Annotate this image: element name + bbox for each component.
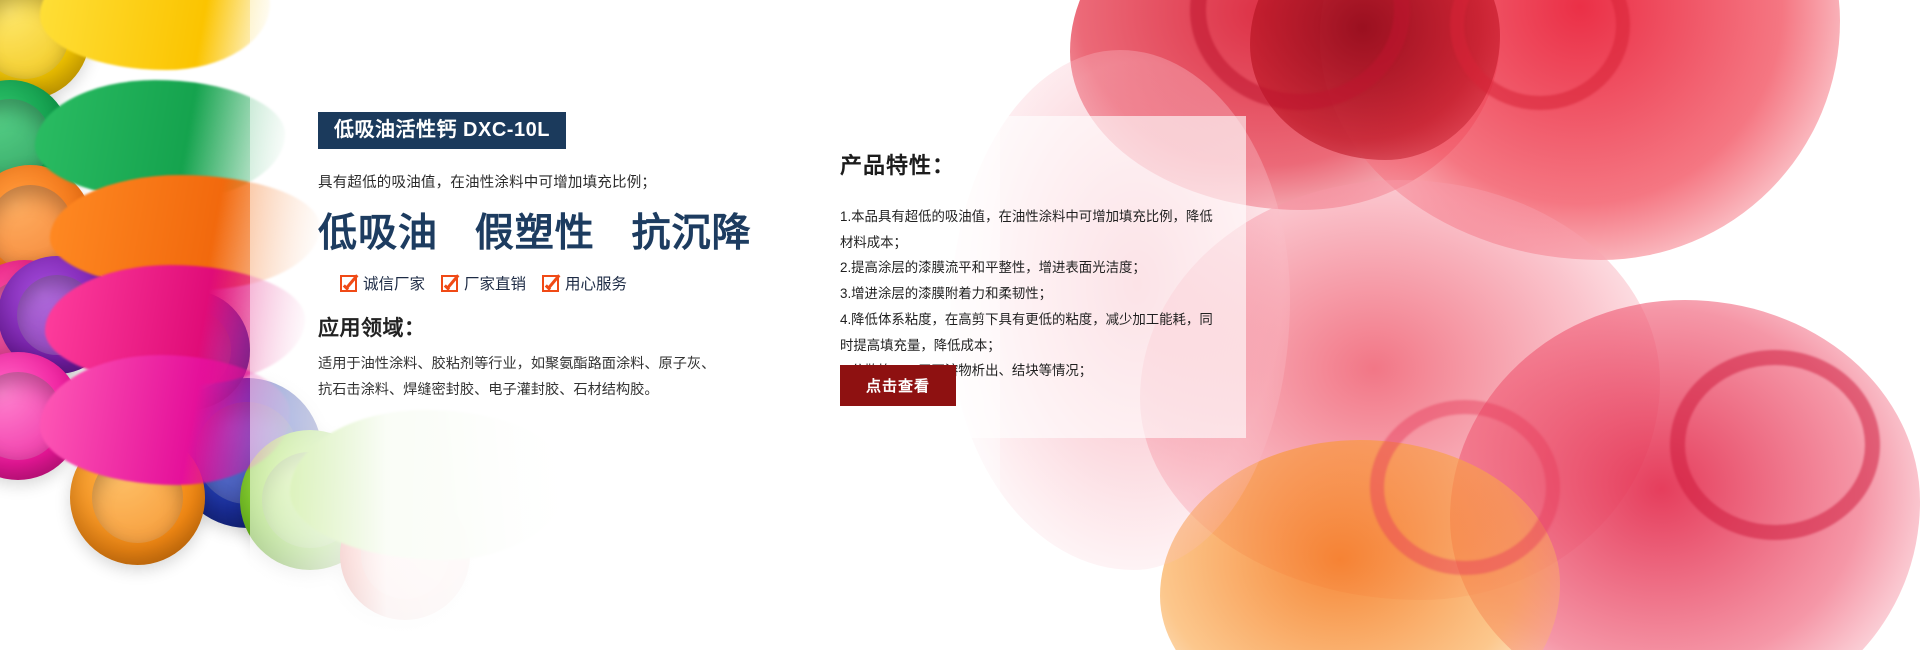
application-section-title: 应用领域： (318, 312, 748, 342)
headline-word-1: 低吸油 (318, 212, 438, 255)
product-features-panel: 产品特性： 1.本品具有超低的吸油值，在油性涂料中可增加填充比例，降低材料成本；… (806, 116, 1246, 438)
headline-word-2: 假塑性 (475, 212, 595, 255)
product-headline: 低吸油 假塑性 抗沉降 (318, 202, 748, 258)
trust-badge-2: 厂家直销 (441, 272, 526, 294)
product-features-panel-inner: 产品特性： 1.本品具有超低的吸油值，在油性涂料中可增加填充比例，降低材料成本；… (806, 116, 1246, 384)
promo-banner: 低吸油活性钙 DXC-10L 具有超低的吸油值，在油性涂料中可增加填充比例； 低… (0, 0, 1920, 650)
features-list: 1.本品具有超低的吸油值，在油性涂料中可增加填充比例，降低材料成本； 2.提高涂… (840, 204, 1218, 384)
check-box-icon (542, 275, 559, 292)
trust-badge-1: 诚信厂家 (340, 272, 425, 294)
feature-item: 1.本品具有超低的吸油值，在油性涂料中可增加填充比例，降低材料成本； (840, 204, 1218, 255)
feature-item: 4.降低体系粘度，在高剪下具有更低的粘度，减少加工能耗，同时提高填充量，降低成本… (840, 307, 1218, 358)
product-subtitle: 具有超低的吸油值，在油性涂料中可增加填充比例； (318, 171, 748, 192)
trust-badge-1-label: 诚信厂家 (363, 272, 425, 294)
headline-word-3: 抗沉降 (632, 212, 752, 255)
feature-item: 3.增进涂层的漆膜附着力和柔韧性； (840, 281, 1218, 307)
check-box-icon (340, 275, 357, 292)
product-title-chip: 低吸油活性钙 DXC-10L (318, 112, 566, 149)
application-section-body: 适用于油性涂料、胶粘剂等行业，如聚氨酯路面涂料、原子灰、抗石击涂料、焊缝密封胶、… (318, 351, 718, 404)
trust-badge-row: 诚信厂家 厂家直销 用心服务 (340, 272, 748, 294)
left-copy-block: 低吸油活性钙 DXC-10L 具有超低的吸油值，在油性涂料中可增加填充比例； 低… (318, 112, 748, 404)
paint-ring-bottom-mid (1370, 400, 1560, 575)
trust-badge-3-label: 用心服务 (565, 272, 627, 294)
paint-ring-lower-right (1670, 350, 1880, 540)
view-details-button[interactable]: 点击查看 (840, 365, 956, 406)
trust-badge-3: 用心服务 (542, 272, 627, 294)
features-panel-title: 产品特性： (840, 148, 1218, 180)
check-box-icon (441, 275, 458, 292)
feature-item: 2.提高涂层的漆膜流平和平整性，增进表面光洁度； (840, 255, 1218, 281)
trust-badge-2-label: 厂家直销 (464, 272, 526, 294)
